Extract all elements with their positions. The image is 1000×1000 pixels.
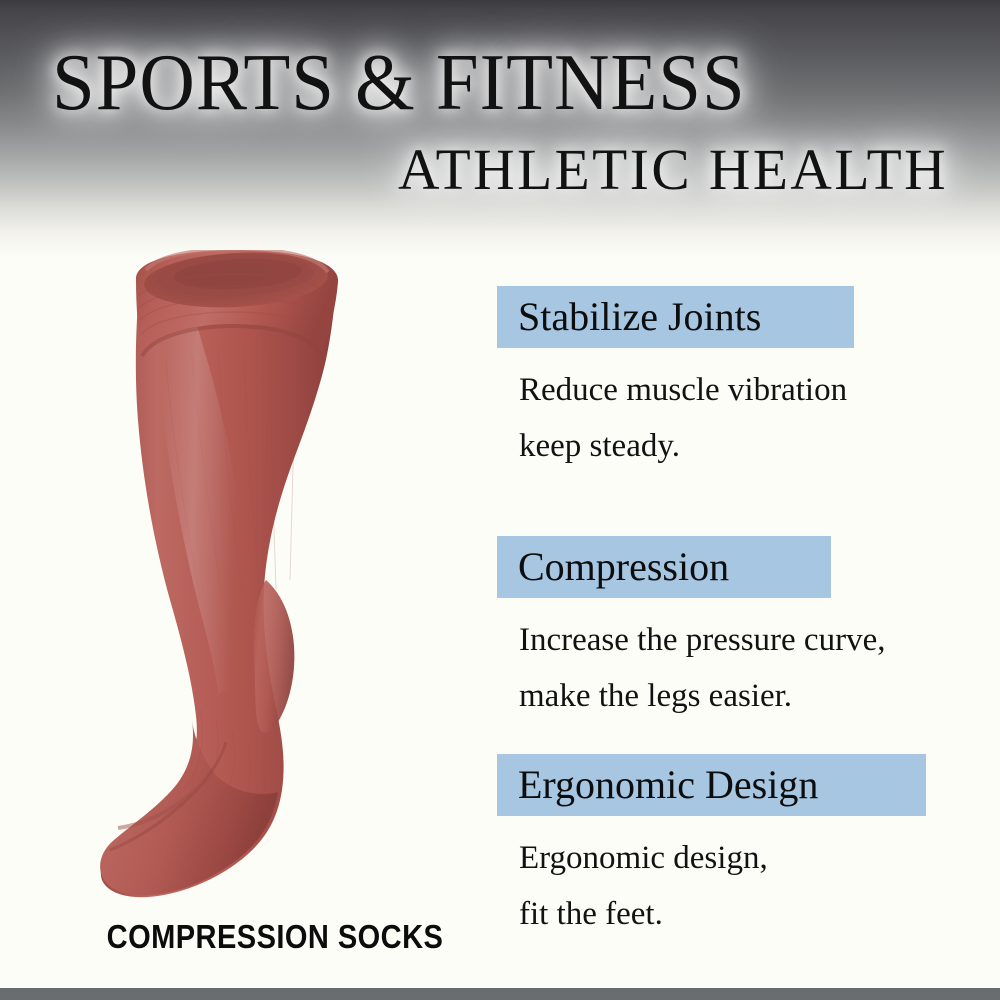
compression-sock-illustration xyxy=(96,250,416,910)
feature-body-line: Reduce muscle vibration xyxy=(519,362,854,418)
feature-body-line: make the legs easier. xyxy=(519,668,885,724)
bottom-divider-bar xyxy=(0,988,1000,1000)
feature-title-badge: Ergonomic Design xyxy=(497,754,926,816)
feature-title-wrap: Compression xyxy=(497,536,885,598)
feature-body-line: keep steady. xyxy=(519,418,854,474)
feature-item-stabilize-joints: Stabilize Joints Reduce muscle vibration… xyxy=(497,286,854,474)
feature-item-ergonomic-design: Ergonomic Design Ergonomic design, fit t… xyxy=(497,754,926,942)
feature-title-wrap: Stabilize Joints xyxy=(497,286,854,348)
feature-title-wrap: Ergonomic Design xyxy=(497,754,926,816)
product-infographic-canvas: SPORTS & FITNESS ATHLETIC HEALTH xyxy=(0,0,1000,1000)
product-caption: COMPRESSION SOCKS xyxy=(86,918,464,956)
page-title: SPORTS & FITNESS xyxy=(52,42,746,124)
feature-body: Increase the pressure curve, make the le… xyxy=(497,612,885,724)
feature-body-line: Ergonomic design, xyxy=(519,830,926,886)
feature-title-badge: Compression xyxy=(497,536,831,598)
feature-body: Ergonomic design, fit the feet. xyxy=(497,830,926,942)
feature-title-badge: Stabilize Joints xyxy=(497,286,854,348)
feature-body-line: Increase the pressure curve, xyxy=(519,612,885,668)
feature-body-line: fit the feet. xyxy=(519,886,926,942)
page-subtitle: ATHLETIC HEALTH xyxy=(398,140,948,200)
feature-item-compression: Compression Increase the pressure curve,… xyxy=(497,536,885,724)
feature-body: Reduce muscle vibration keep steady. xyxy=(497,362,854,474)
